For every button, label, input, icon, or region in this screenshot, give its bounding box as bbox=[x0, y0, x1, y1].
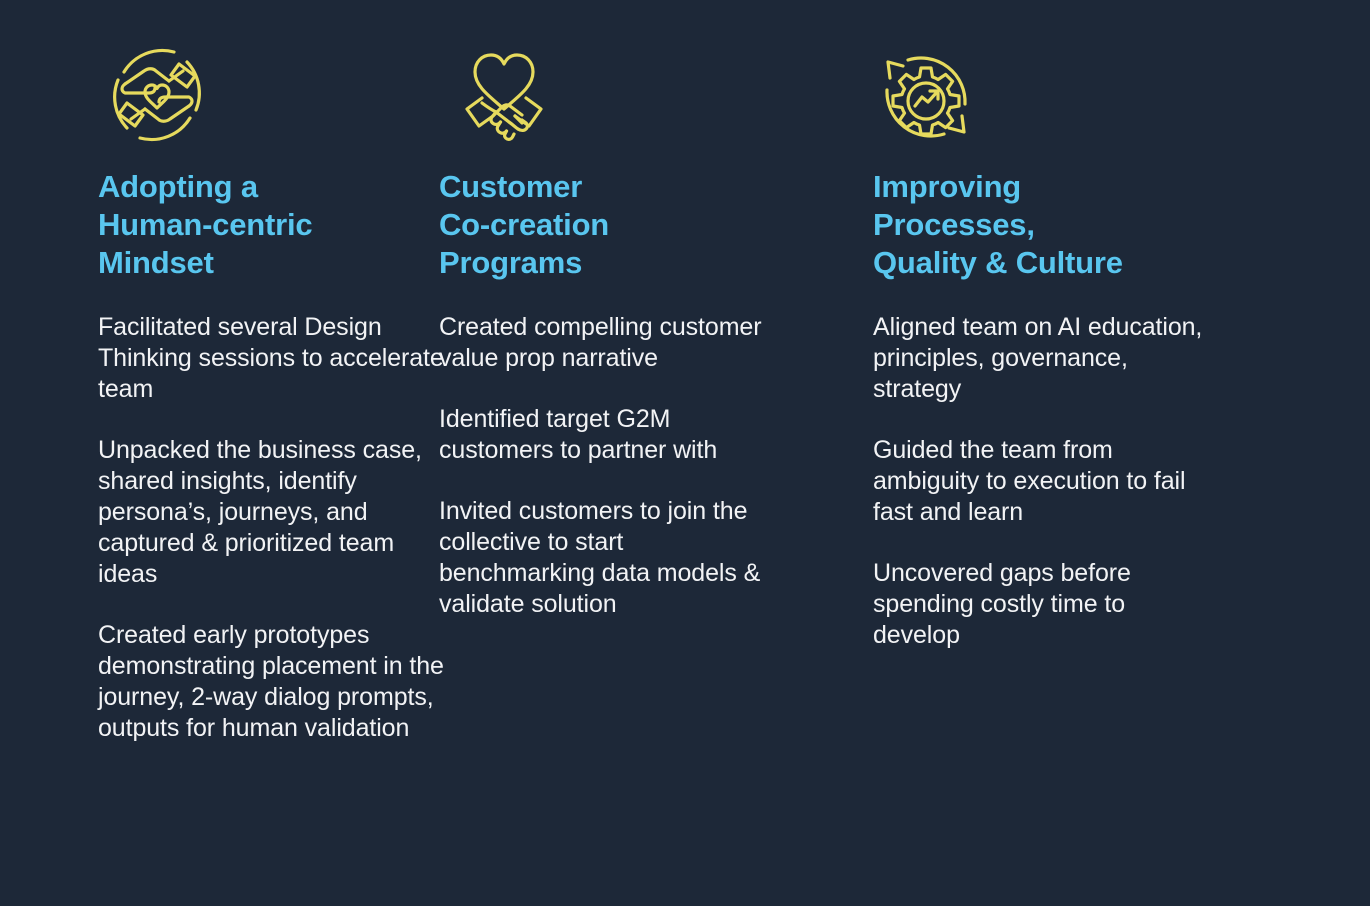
hands-holding-heart-icon bbox=[98, 46, 420, 150]
bullet-item: Guided the team from ambiguity to execut… bbox=[873, 435, 1203, 528]
bullet-list: Created compelling customer value prop n… bbox=[439, 312, 854, 620]
column-heading: Customer Co-creation Programs bbox=[439, 168, 739, 282]
gear-growth-cycle-icon bbox=[873, 46, 1370, 150]
bullet-item: Unpacked the business case, shared insig… bbox=[98, 435, 448, 590]
bullet-item: Created early prototypes demonstrating p… bbox=[98, 620, 448, 744]
bullet-item: Facilitated several Design Thinking sess… bbox=[98, 312, 448, 405]
column-heading: Improving Processes, Quality & Culture bbox=[873, 168, 1203, 282]
bullet-list: Aligned team on AI education, principles… bbox=[873, 312, 1370, 651]
column-adopting-human-centric-mindset: Adopting a Human-centric Mindset Facilit… bbox=[0, 0, 420, 744]
slide-canvas: Adopting a Human-centric Mindset Facilit… bbox=[0, 0, 1370, 906]
bullet-item: Aligned team on AI education, principles… bbox=[873, 312, 1203, 405]
column-customer-co-creation-programs: Customer Co-creation Programs Created co… bbox=[420, 0, 854, 620]
column-heading: Adopting a Human-centric Mindset bbox=[98, 168, 398, 282]
bullet-list: Facilitated several Design Thinking sess… bbox=[98, 312, 420, 744]
bullet-item: Created compelling customer value prop n… bbox=[439, 312, 784, 374]
bullet-item: Uncovered gaps before spending costly ti… bbox=[873, 558, 1203, 651]
bullet-item: Identified target G2M customers to partn… bbox=[439, 404, 784, 466]
column-improving-processes-quality-culture: Improving Processes, Quality & Culture A… bbox=[854, 0, 1370, 651]
handshake-heart-icon bbox=[439, 46, 854, 150]
bullet-item: Invited customers to join the collective… bbox=[439, 496, 784, 620]
three-column-layout: Adopting a Human-centric Mindset Facilit… bbox=[0, 0, 1370, 906]
